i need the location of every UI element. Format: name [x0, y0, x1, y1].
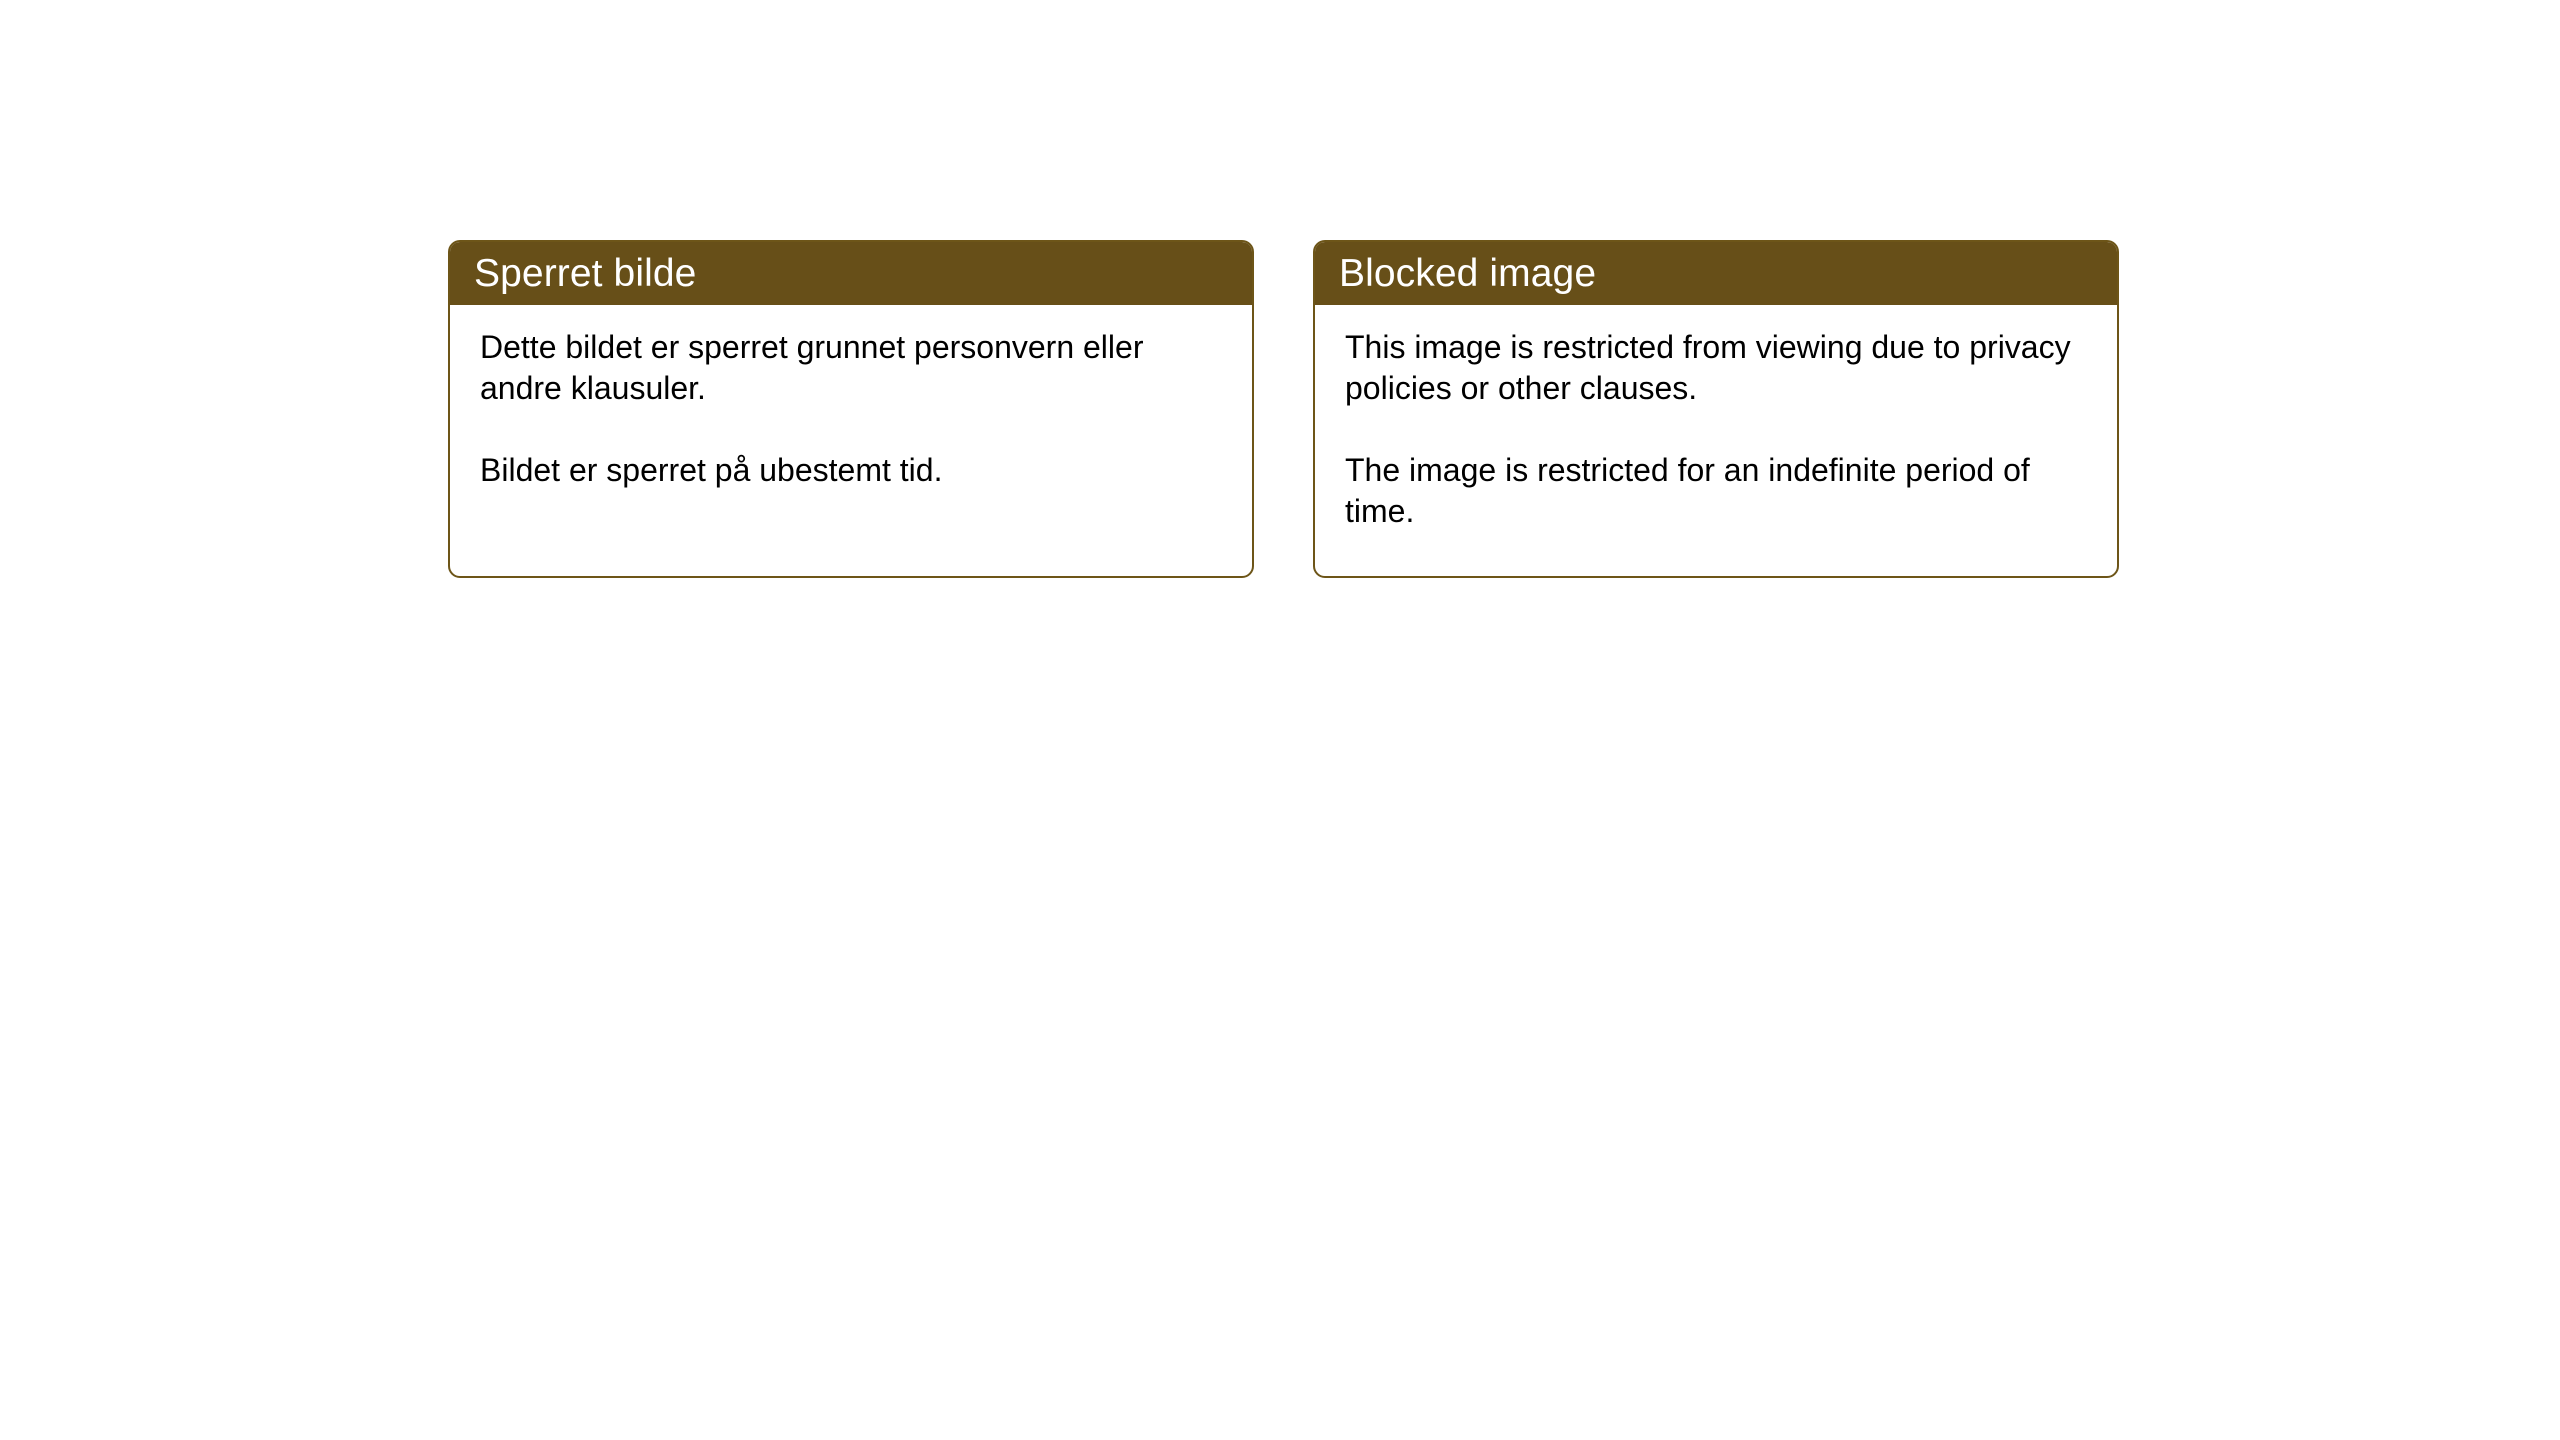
panel-body-norwegian: Dette bildet er sperret grunnet personve…	[450, 305, 1252, 491]
panel-title-english: Blocked image	[1339, 254, 1596, 293]
panel-paragraph-duration-norwegian: Bildet er sperret på ubestemt tid.	[480, 450, 1220, 491]
panel-paragraph-reason-english: This image is restricted from viewing du…	[1345, 327, 2085, 408]
panel-header-norwegian: Sperret bilde	[450, 242, 1252, 305]
panel-paragraph-reason-norwegian: Dette bildet er sperret grunnet personve…	[480, 327, 1220, 408]
panel-title-norwegian: Sperret bilde	[474, 254, 696, 293]
blocked-image-panel-norwegian: Sperret bilde Dette bildet er sperret gr…	[448, 240, 1254, 578]
panel-paragraph-duration-english: The image is restricted for an indefinit…	[1345, 450, 2085, 531]
panel-header-english: Blocked image	[1315, 242, 2117, 305]
blocked-image-notice-area: Sperret bilde Dette bildet er sperret gr…	[0, 0, 2560, 1440]
panel-body-english: This image is restricted from viewing du…	[1315, 305, 2117, 532]
blocked-image-panel-english: Blocked image This image is restricted f…	[1313, 240, 2119, 578]
